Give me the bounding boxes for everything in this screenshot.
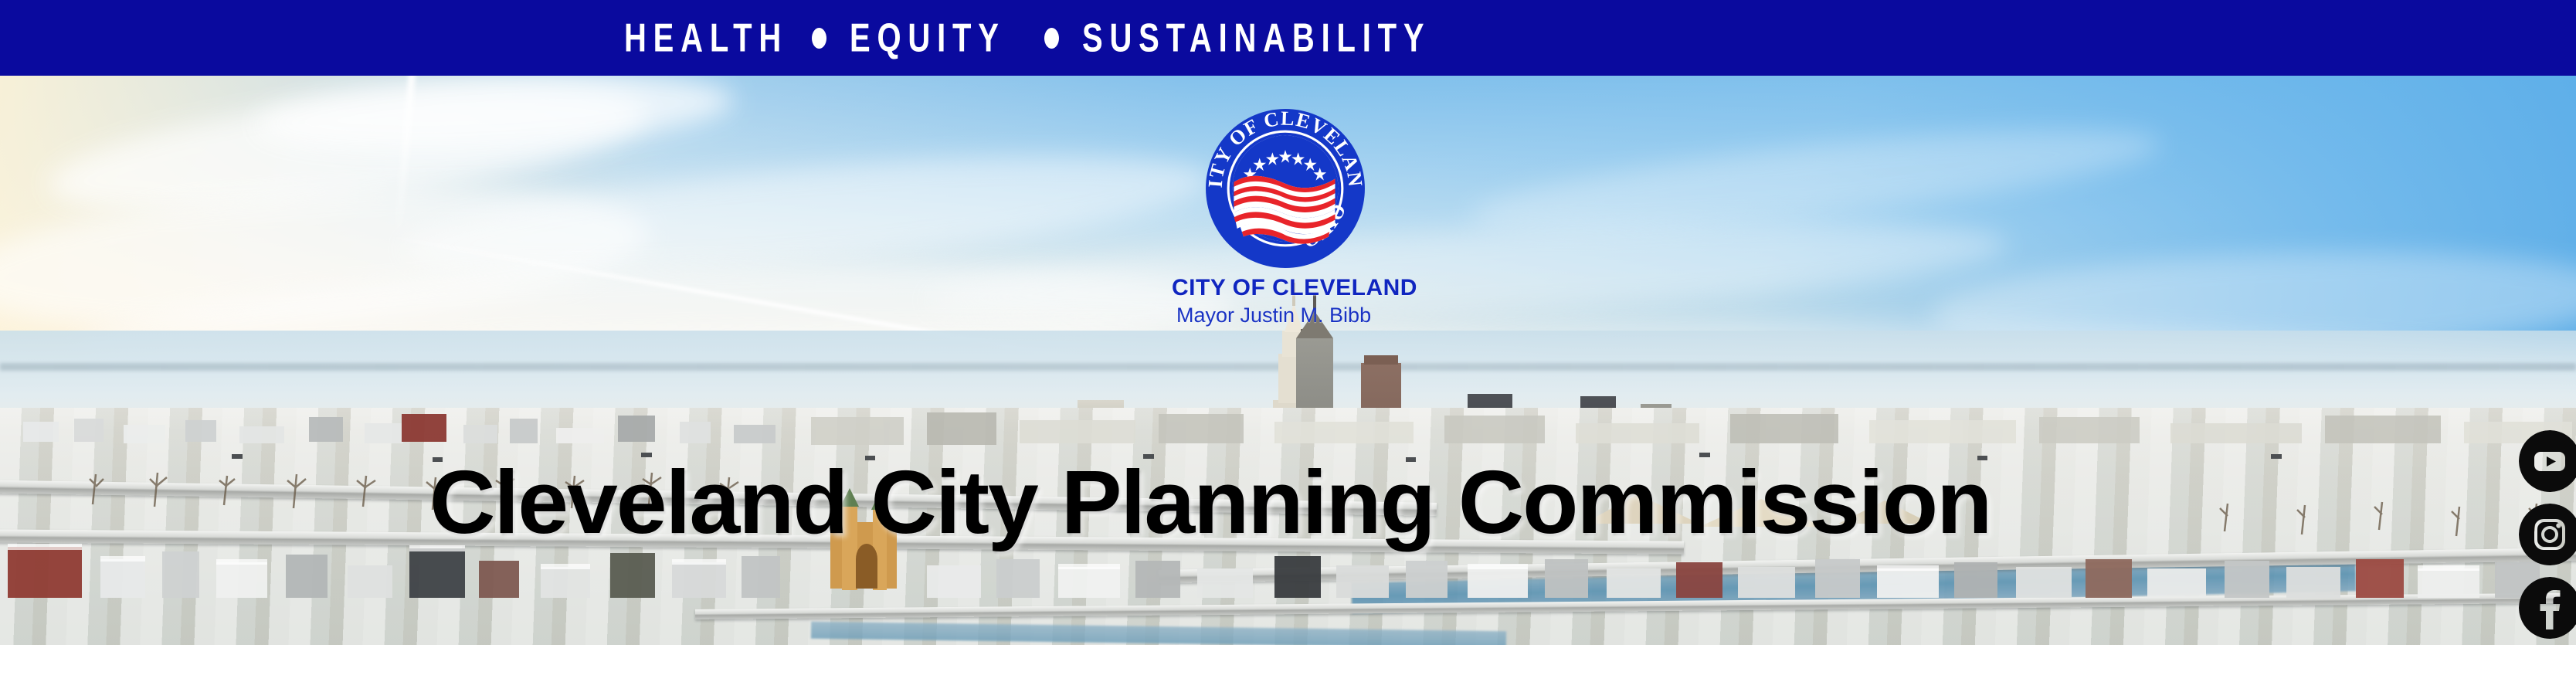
social-links [2519, 430, 2576, 639]
tagline-separator-dot-1 [812, 28, 826, 49]
page-banner: HEALTH EQUITY SUSTAINABILITY [0, 0, 2576, 682]
tagline-bar: HEALTH EQUITY SUSTAINABILITY [0, 0, 2576, 76]
tagline-separator-dot-2 [1044, 28, 1059, 49]
city-branding: CITY OF CLEVELAND OHIO [1205, 108, 1366, 327]
youtube-icon[interactable] [2519, 430, 2576, 492]
city-name-label: CITY OF CLEVELAND [1172, 275, 1332, 301]
mayor-label: Mayor Justin M. Bibb [1176, 304, 1337, 327]
tagline-word-sustainability: SUSTAINABILITY [1082, 18, 1431, 58]
tagline-word-health: HEALTH [624, 18, 788, 58]
city-of-cleveland-seal: CITY OF CLEVELAND OHIO [1205, 108, 1366, 269]
facebook-icon[interactable] [2519, 577, 2576, 639]
seal-flag [1234, 176, 1335, 244]
hero-photo: CITY OF CLEVELAND OHIO [0, 76, 2576, 645]
tagline-text-group: HEALTH EQUITY SUSTAINABILITY [624, 19, 1518, 57]
instagram-icon[interactable] [2519, 504, 2576, 565]
page-title: Cleveland City Planning Commission [429, 457, 1991, 547]
tagline-word-equity: EQUITY [850, 18, 1006, 58]
